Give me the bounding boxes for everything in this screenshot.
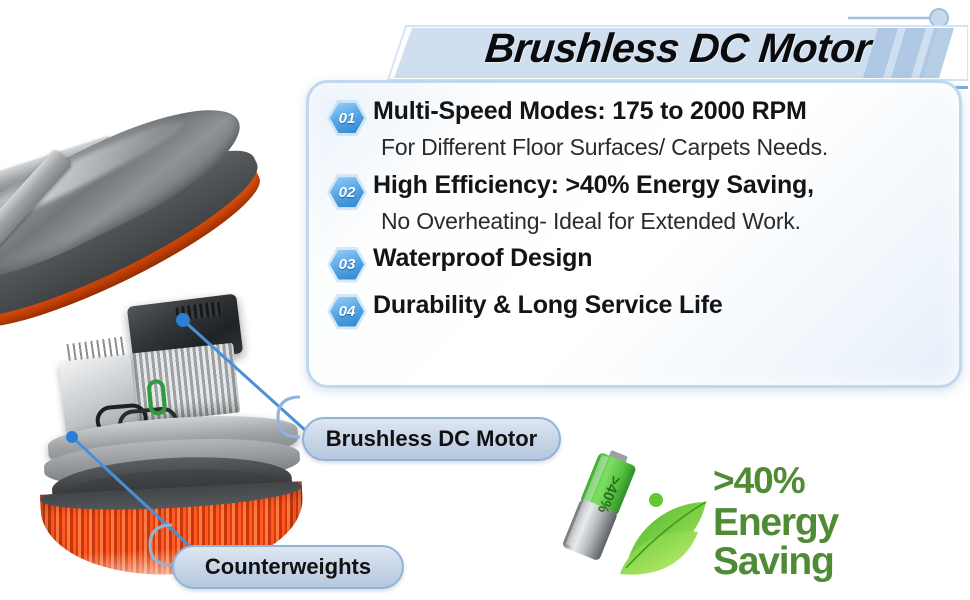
feature-title: Multi-Speed Modes: 175 to 2000 RPM [373, 97, 939, 127]
energy-percent: >40% [713, 462, 963, 499]
features-panel: 01 Multi-Speed Modes: 175 to 2000 RPM Fo… [306, 80, 962, 388]
hexagon-badge-04: 04 [327, 292, 367, 332]
callout-label: Counterweights [205, 554, 371, 580]
energy-label: Energy Saving [713, 503, 963, 581]
feature-item-02: 02 High Efficiency: >40% Energy Saving, … [327, 171, 939, 235]
product-photo [0, 140, 350, 600]
feature-title: High Efficiency: >40% Energy Saving, [373, 171, 939, 201]
hexagon-badge-01: 01 [327, 98, 367, 138]
feature-item-03: 03 Waterproof Design [327, 244, 939, 285]
feature-title: Waterproof Design [373, 244, 939, 274]
badge-number: 02 [330, 177, 364, 207]
badge-number: 03 [330, 250, 364, 280]
callout-label: Brushless DC Motor [326, 426, 537, 452]
product-infographic: Brushless DC Motor 01 Multi-Speed Modes:… [0, 0, 970, 600]
feature-item-01: 01 Multi-Speed Modes: 175 to 2000 RPM Fo… [327, 97, 939, 161]
energy-saving-badge: >40% >40% Energy Saving [548, 440, 968, 590]
wire-green [146, 379, 167, 416]
feature-item-04: 04 Durability & Long Service Life [327, 291, 939, 332]
badge-number: 04 [330, 297, 364, 327]
hexagon-badge-03: 03 [327, 245, 367, 285]
energy-saving-text: >40% Energy Saving [713, 462, 963, 581]
header-banner: Brushless DC Motor [378, 4, 968, 90]
banner-title: Brushless DC Motor [435, 20, 921, 76]
feature-subtitle: No Overheating- Ideal for Extended Work. [373, 207, 939, 236]
hexagon-badge-02: 02 [327, 172, 367, 212]
feature-subtitle: For Different Floor Surfaces/ Carpets Ne… [373, 133, 939, 162]
callout-brushless-dc-motor: Brushless DC Motor [302, 417, 561, 461]
callout-counterweights: Counterweights [172, 545, 404, 589]
badge-number: 01 [330, 103, 364, 133]
motor-vent [175, 301, 222, 321]
feature-title: Durability & Long Service Life [373, 291, 939, 321]
